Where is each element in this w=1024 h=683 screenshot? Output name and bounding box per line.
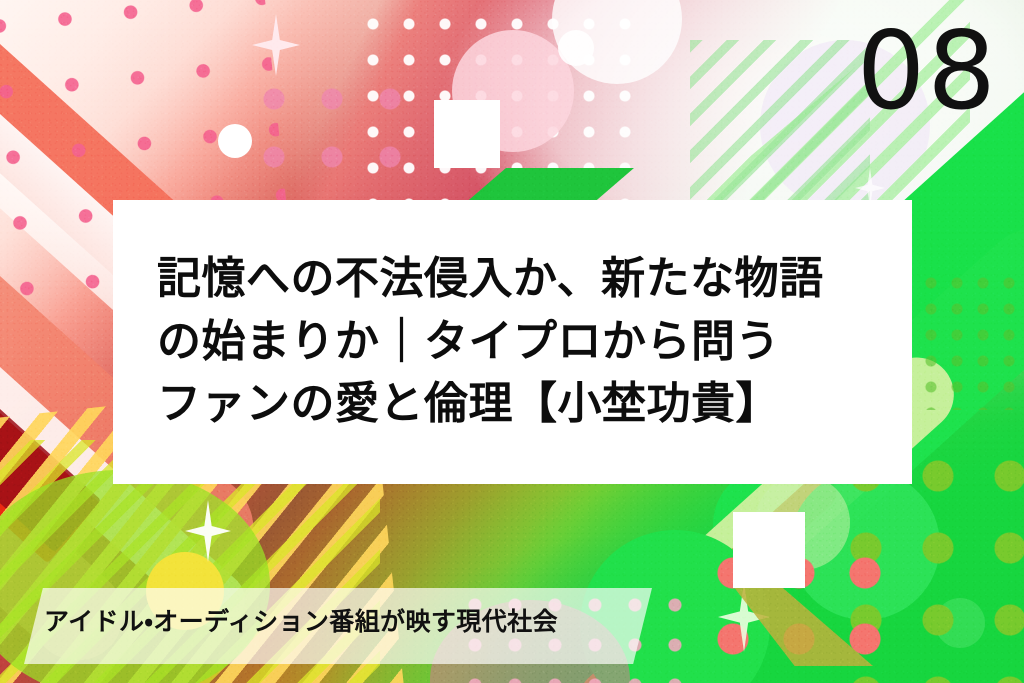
- white-square-top: [434, 100, 500, 168]
- circle-white-small: [558, 30, 594, 66]
- white-square-bottom: [733, 512, 805, 588]
- title-line-1: 記憶への不法侵入か、新たな物語: [157, 248, 868, 310]
- title-card: 記憶への不法侵入か、新たな物語 の始まりか｜タイプロから問う ファンの愛と倫理【…: [113, 200, 912, 484]
- title-line-2: の始まりか｜タイプロから問う: [157, 311, 868, 373]
- issue-number-badge: 08: [857, 18, 998, 126]
- hatch-stripes-middle: [690, 40, 870, 200]
- caption-subtitle: アイドル・オーディション番組が映す現代社会: [44, 607, 558, 637]
- title-line-3: ファンの愛と倫理【小埜功貴】: [157, 373, 868, 435]
- thumbnail-canvas: 08 記憶への不法侵入か、新たな物語 の始まりか｜タイプロから問う ファンの愛と…: [0, 0, 1024, 683]
- circle-white-topleft: [218, 124, 252, 158]
- dot-grid-green-right: [918, 270, 1024, 410]
